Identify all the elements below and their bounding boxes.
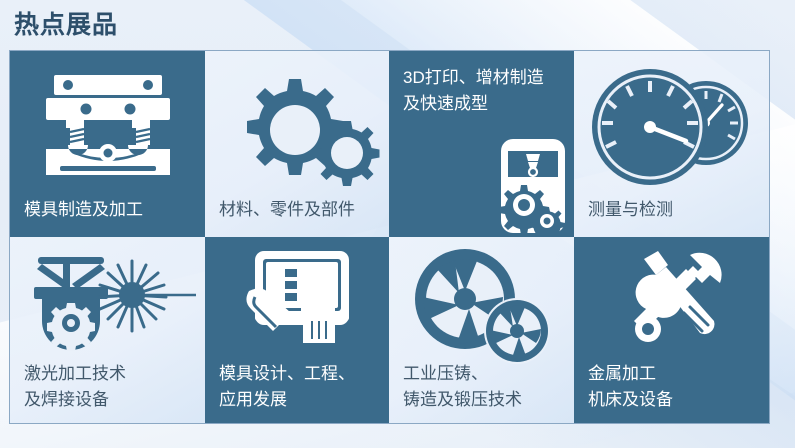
tile-die-casting-forging[interactable]: 工业压铸、 铸造及锻压技术 [389, 237, 574, 423]
wrench-screwdriver-icon [624, 249, 728, 353]
tablet-hand-icon [241, 247, 357, 355]
tile-label: 模具设计、工程、 应用发展 [219, 361, 381, 413]
tile-3d-printing-additive[interactable]: 3D打印、增材制造 及快速成型 [389, 51, 574, 237]
exhibit-category-grid: 模具制造及加工 材料、零件及部件 [9, 50, 770, 424]
tile-label: 3D打印、增材制造 及快速成型 [403, 65, 566, 117]
tile-mold-manufacturing[interactable]: 模具制造及加工 [10, 51, 205, 237]
mold-press-icon [42, 71, 174, 183]
tile-label: 测量与检测 [588, 197, 761, 223]
wheel-rims-icon [407, 245, 559, 373]
gauges-icon [588, 61, 756, 201]
tile-label: 模具制造及加工 [24, 197, 197, 223]
tile-mold-design-engineering[interactable]: 模具设计、工程、 应用发展 [205, 237, 389, 423]
tile-label: 材料、零件及部件 [219, 197, 381, 223]
tile-label: 激光加工技术 及焊接设备 [24, 361, 197, 413]
page-title: 热点展品 [14, 8, 118, 42]
gears-icon [231, 73, 381, 203]
tile-metalworking-machine-tools[interactable]: 金属加工 机床及设备 [574, 237, 769, 423]
tile-laser-processing-welding[interactable]: 激光加工技术 及焊接设备 [10, 237, 205, 423]
tile-materials-parts-components[interactable]: 材料、零件及部件 [205, 51, 389, 237]
laser-head-icon [24, 247, 196, 367]
tile-label: 金属加工 机床及设备 [588, 361, 761, 413]
tile-label: 工业压铸、 铸造及锻压技术 [403, 361, 566, 413]
tile-measurement-inspection[interactable]: 测量与检测 [574, 51, 769, 237]
3d-printer-icon [497, 137, 569, 237]
